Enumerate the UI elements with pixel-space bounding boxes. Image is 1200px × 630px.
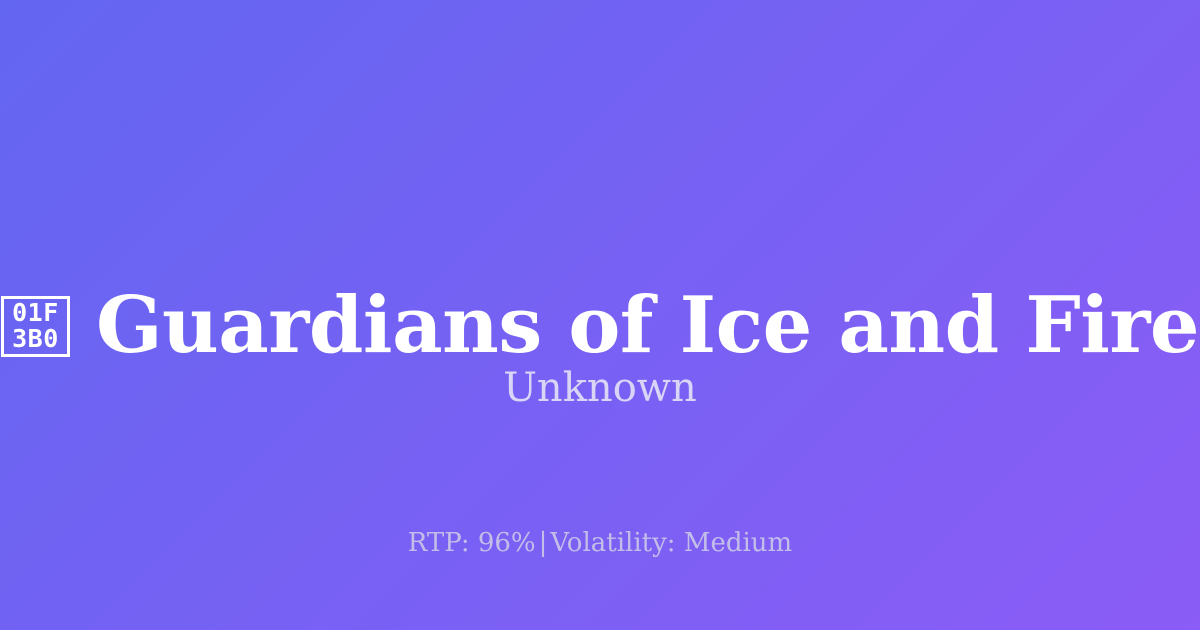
- rtp-value: RTP: 96%: [408, 528, 536, 558]
- tofu-codepoint-row-bottom: 3B0: [12, 326, 59, 352]
- game-preview-card: 01F 3B0 Guardians of Ice and Fire Unknow…: [0, 0, 1200, 630]
- volatility-value: Volatility: Medium: [550, 528, 792, 558]
- slot-machine-emoji-tofu-icon: 01F 3B0: [1, 296, 70, 357]
- meta-separator: |: [536, 528, 551, 558]
- card-subtitle: Unknown: [0, 363, 1200, 413]
- card-footer-meta: RTP: 96%|Volatility: Medium: [0, 527, 1200, 559]
- tofu-codepoint-row-top: 01F: [12, 300, 59, 326]
- page-title: Guardians of Ice and Fire: [96, 283, 1199, 369]
